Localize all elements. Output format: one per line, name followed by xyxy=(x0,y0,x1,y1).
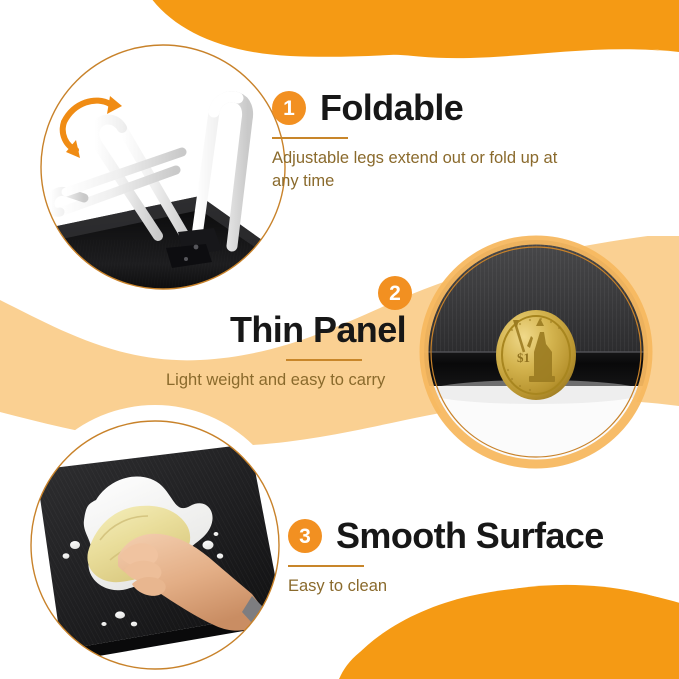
feature-1-badge: 1 xyxy=(272,91,306,125)
svg-text:$1: $1 xyxy=(517,350,530,365)
feature-2-underline xyxy=(286,359,362,361)
feature-3-badge: 3 xyxy=(288,519,322,553)
feature-1-title: Foldable xyxy=(320,90,463,126)
feature-1-underline xyxy=(272,137,348,139)
feature-3-subtitle: Easy to clean xyxy=(288,575,604,598)
feature-2-title: Thin Panel xyxy=(230,312,406,348)
feature-3-heading: 3 Smooth Surface xyxy=(288,518,604,554)
feature-2-badge: 2 xyxy=(378,276,412,310)
feature-1-heading: 1 Foldable xyxy=(272,90,572,126)
feature-3-underline xyxy=(288,565,364,567)
feature-block-1: 1 Foldable Adjustable legs extend out or… xyxy=(272,90,572,194)
infographic-canvas: $1 xyxy=(0,0,679,679)
feature-2-subtitle: Light weight and easy to carry xyxy=(166,369,406,392)
feature-1-subtitle: Adjustable legs extend out or fold up at… xyxy=(272,147,572,194)
dollar-coin: $1 xyxy=(496,310,576,400)
feature-block-3: 3 Smooth Surface Easy to clean xyxy=(288,518,604,598)
feature-2-heading: 2 Thin Panel xyxy=(230,312,406,348)
feature-3-title: Smooth Surface xyxy=(336,518,604,554)
feature-block-2: 2 Thin Panel Light weight and easy to ca… xyxy=(230,312,406,392)
